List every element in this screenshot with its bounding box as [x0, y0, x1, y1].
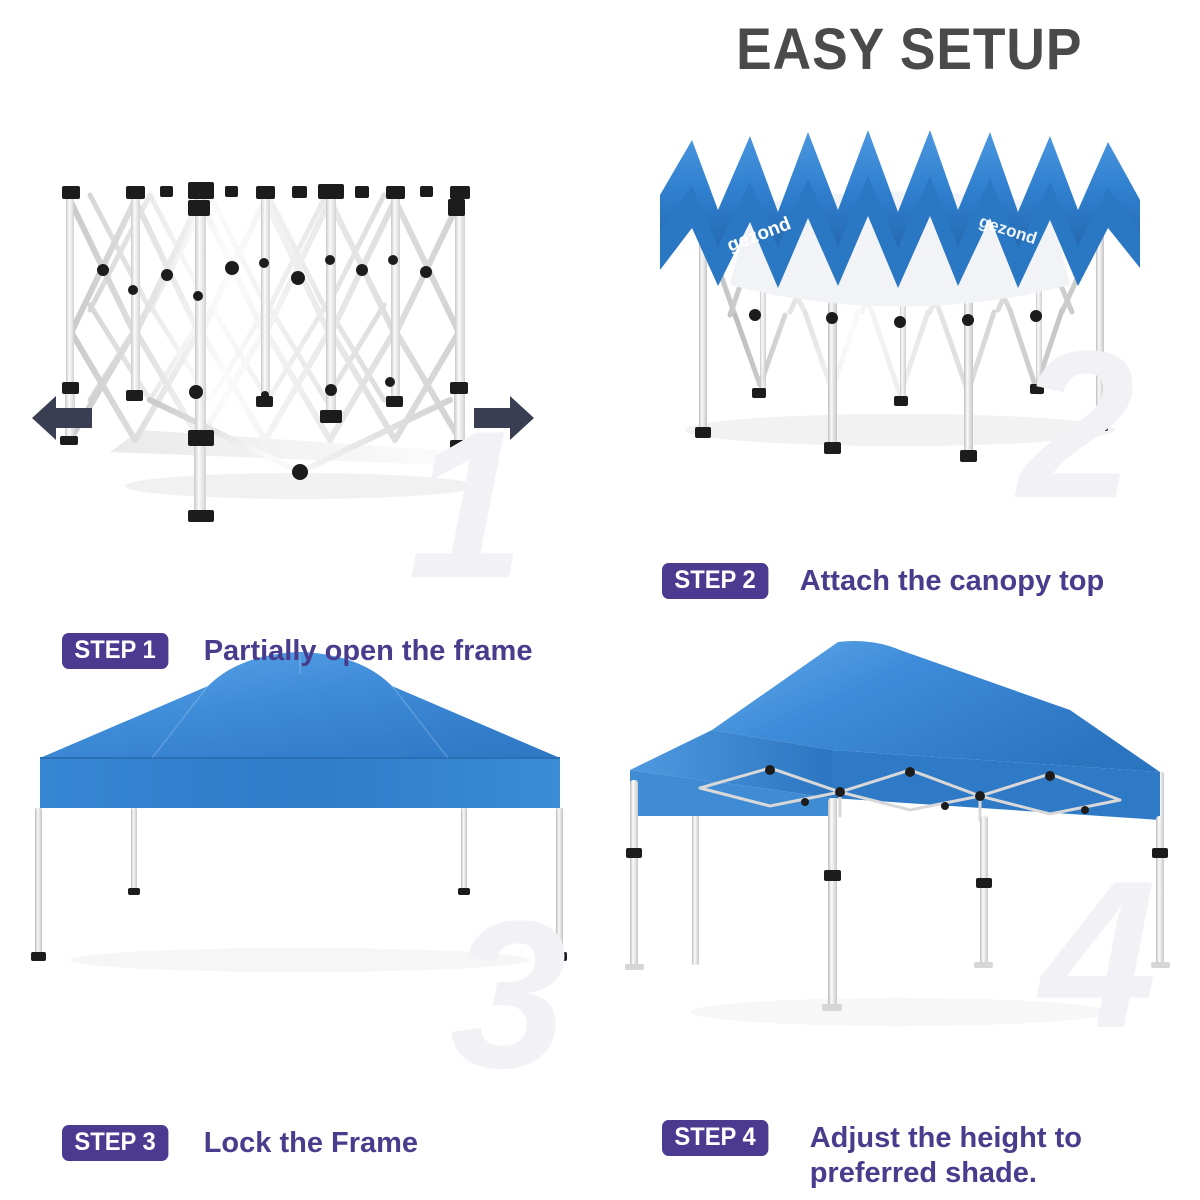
steps-grid: gezond gezond	[0, 100, 1200, 1200]
step-caption-3: STEP 3 Lock the Frame	[62, 1125, 418, 1161]
step-caption-4: STEP 4 Adjust the height to preferred sh…	[662, 1120, 1082, 1192]
step-caption-2: STEP 2 Attach the canopy top	[662, 563, 1104, 599]
step-description-4: Adjust the height to preferred shade.	[810, 1120, 1082, 1192]
watermark-number-3: 3	[450, 890, 567, 1100]
step-badge-1: STEP 1	[62, 633, 168, 669]
step-description-3: Lock the Frame	[204, 1125, 418, 1161]
step-badge-3: STEP 3	[62, 1125, 168, 1161]
step-badge-2: STEP 2	[662, 563, 768, 599]
watermark-number-4: 4	[1040, 850, 1157, 1060]
watermark-number-2: 2	[1018, 320, 1135, 530]
step-caption-1: STEP 1 Partially open the frame	[62, 633, 532, 669]
arrow-left-icon	[32, 396, 92, 440]
draped-canopy-top	[660, 130, 1140, 288]
header-bar: EASY SETUP	[0, 0, 1200, 100]
page-title: EASY SETUP	[736, 21, 1082, 79]
watermark-number-1: 1	[408, 400, 525, 610]
step-description-1: Partially open the frame	[204, 633, 533, 669]
step-badge-4: STEP 4	[662, 1120, 768, 1156]
canopy-valance	[40, 758, 560, 808]
step-description-2: Attach the canopy top	[800, 563, 1105, 599]
